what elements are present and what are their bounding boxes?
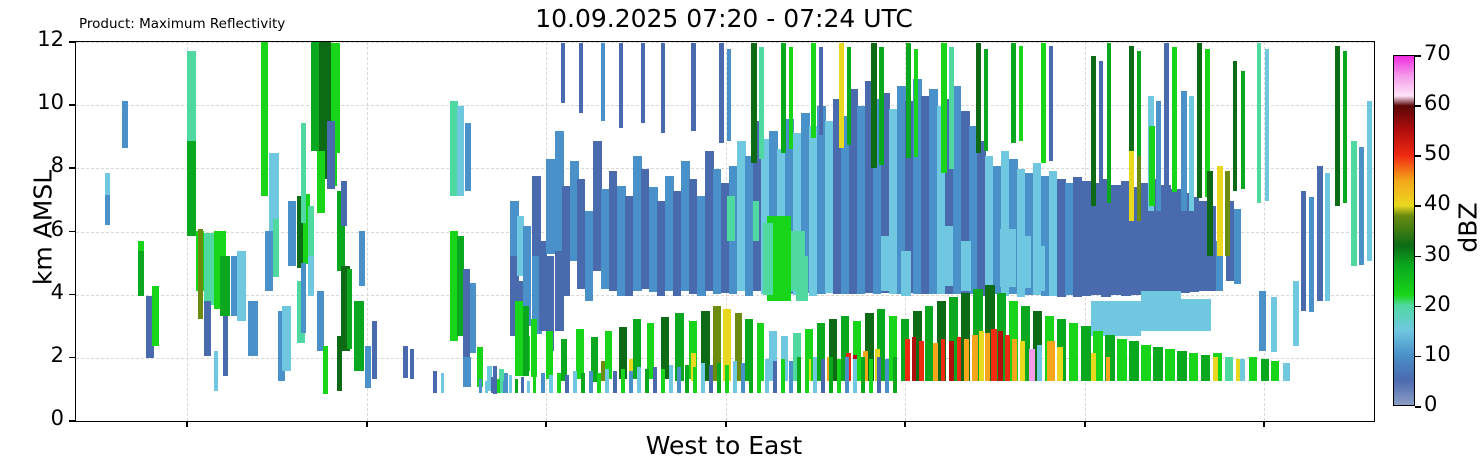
y-tick-label: 0 (20, 406, 64, 430)
reflectivity-cell (1236, 359, 1240, 381)
reflectivity-cell (809, 126, 817, 296)
reflectivity-cell (485, 381, 488, 393)
reflectivity-cell (557, 373, 561, 393)
reflectivity-cell (797, 357, 801, 393)
y-tick-mark (69, 357, 75, 359)
reflectivity-cell (693, 367, 697, 393)
reflectivity-cell (1017, 236, 1031, 288)
y-tick-mark (69, 41, 75, 43)
reflectivity-cell (1283, 363, 1290, 381)
colorbar-tick-label: 60 (1424, 91, 1451, 115)
reflectivity-cell (601, 189, 609, 289)
reflectivity-cell (288, 201, 296, 266)
reflectivity-cell (869, 359, 873, 393)
reflectivity-cell (661, 43, 665, 133)
reflectivity-cell (893, 357, 897, 393)
reflectivity-cell (713, 169, 721, 294)
reflectivity-cell (941, 339, 945, 381)
reflectivity-cell (985, 156, 993, 296)
reflectivity-cell (621, 369, 625, 393)
reflectivity-cell (906, 43, 911, 158)
reflectivity-cell (1164, 43, 1169, 193)
plot-area (75, 41, 1375, 422)
y-tick-mark (69, 294, 75, 296)
reflectivity-cell (821, 359, 825, 393)
reflectivity-cell (1117, 339, 1127, 381)
reflectivity-cell (341, 181, 347, 226)
reflectivity-cell (625, 196, 633, 296)
colorbar-tick-mark (1415, 406, 1421, 408)
reflectivity-cell (819, 47, 823, 135)
reflectivity-cell (717, 363, 721, 393)
y-tick-mark (69, 231, 75, 233)
x-tick-mark (545, 421, 547, 427)
reflectivity-cell (619, 43, 623, 128)
reflectivity-cell (105, 173, 110, 195)
reflectivity-cell (949, 341, 954, 381)
reflectivity-cell (912, 337, 916, 381)
reflectivity-cell (491, 377, 494, 393)
reflectivity-cell (921, 96, 929, 294)
reflectivity-cell (497, 379, 500, 393)
reflectivity-cell (753, 201, 759, 241)
reflectivity-cell (757, 363, 761, 393)
reflectivity-cell (741, 363, 745, 393)
reflectivity-cell (691, 43, 696, 131)
colorbar-tick-label: 10 (1424, 342, 1451, 366)
reflectivity-cell (282, 306, 291, 371)
product-annotation: Product: Maximum Reflectivity (79, 16, 285, 32)
reflectivity-cell (579, 43, 583, 113)
reflectivity-cell (1129, 151, 1134, 221)
reflectivity-cell (763, 223, 773, 295)
reflectivity-cell (317, 291, 324, 351)
reflectivity-cell (403, 346, 408, 378)
reflectivity-cell (605, 369, 609, 393)
reflectivity-cell (677, 367, 681, 393)
reflectivity-cell (365, 346, 371, 388)
reflectivity-cell (657, 201, 665, 296)
reflectivity-cell (204, 301, 211, 356)
reflectivity-cell (641, 169, 649, 289)
reflectivity-cell (781, 359, 785, 393)
reflectivity-cell (839, 43, 844, 148)
reflectivity-cell (1049, 171, 1057, 296)
colorbar-tick-mark (1415, 256, 1421, 258)
colorbar-tick-mark (1415, 155, 1421, 157)
y-tick-mark (69, 167, 75, 169)
reflectivity-cell (953, 86, 961, 294)
reflectivity-cell (1047, 341, 1055, 381)
reflectivity-cell (857, 106, 865, 294)
reflectivity-cell (1261, 359, 1269, 381)
reflectivity-cell (1201, 355, 1210, 381)
reflectivity-cell (1189, 353, 1198, 381)
reflectivity-cell (847, 47, 851, 145)
reflectivity-cell (441, 373, 444, 393)
reflectivity-cell (789, 361, 793, 393)
reflectivity-cell (749, 361, 753, 393)
reflectivity-cell (354, 301, 364, 371)
reflectivity-cell (1081, 326, 1091, 381)
reflectivity-cell (323, 346, 328, 394)
reflectivity-cell (198, 229, 203, 319)
reflectivity-cell (463, 269, 470, 359)
reflectivity-cell (1335, 46, 1340, 206)
reflectivity-cell (765, 359, 769, 393)
reflectivity-cell (1317, 166, 1323, 301)
reflectivity-cell (581, 373, 585, 393)
reflectivity-cell (562, 186, 570, 296)
reflectivity-cell (871, 43, 877, 168)
reflectivity-cell (576, 329, 584, 379)
reflectivity-cell (317, 151, 325, 213)
y-tick-label: 10 (20, 90, 64, 114)
reflectivity-cell (845, 357, 849, 393)
reflectivity-cell (463, 357, 471, 387)
reflectivity-cell (789, 47, 793, 149)
reflectivity-cell (885, 359, 889, 393)
reflectivity-cell (1037, 345, 1042, 381)
reflectivity-cell (1207, 171, 1213, 256)
reflectivity-cell (1012, 339, 1017, 381)
reflectivity-cell (1091, 56, 1096, 206)
reflectivity-cell (1234, 209, 1241, 284)
y-tick-mark (69, 420, 75, 422)
reflectivity-cell (1217, 166, 1223, 256)
reflectivity-cell (359, 231, 365, 286)
reflectivity-cell (561, 43, 565, 103)
colorbar-tick-mark (1415, 306, 1421, 308)
radar-cross-section-figure: 10.09.2025 07:20 - 07:24 UTC Product: Ma… (0, 0, 1482, 470)
reflectivity-cell (1111, 185, 1121, 295)
reflectivity-cell (1213, 357, 1218, 381)
reflectivity-cell (515, 301, 523, 376)
y-tick-label: 8 (20, 153, 64, 177)
reflectivity-cell (933, 343, 938, 381)
reflectivity-cell (979, 331, 984, 381)
reflectivity-cell (1011, 43, 1016, 143)
x-tick-mark (186, 421, 188, 427)
reflectivity-cell (1351, 141, 1357, 266)
reflectivity-cell (521, 377, 524, 393)
reflectivity-cell (261, 41, 268, 196)
reflectivity-cell (919, 341, 924, 381)
reflectivity-cell (541, 373, 545, 393)
reflectivity-cell (1181, 299, 1211, 331)
reflectivity-cell (347, 269, 352, 349)
reflectivity-cell (976, 43, 981, 153)
x-tick-mark (725, 421, 727, 427)
reflectivity-cell (1065, 183, 1073, 295)
reflectivity-cell (985, 333, 990, 381)
reflectivity-cell (546, 331, 553, 379)
reflectivity-cell (138, 251, 144, 296)
reflectivity-cell (1249, 357, 1257, 381)
reflectivity-cell (577, 179, 585, 289)
reflectivity-cell (1033, 246, 1045, 291)
reflectivity-cell (1099, 61, 1103, 203)
reflectivity-cell (1367, 101, 1372, 261)
reflectivity-cell (805, 359, 809, 393)
reflectivity-cell (1161, 185, 1171, 295)
reflectivity-cell (410, 349, 414, 379)
reflectivity-cell (727, 49, 731, 141)
reflectivity-cell (719, 43, 724, 143)
reflectivity-cell (689, 179, 697, 294)
reflectivity-cell (597, 373, 601, 393)
reflectivity-cell (1233, 61, 1237, 191)
reflectivity-cell (796, 256, 808, 301)
reflectivity-cell (825, 121, 833, 293)
colorbar-tick-mark (1415, 105, 1421, 107)
reflectivity-cell (531, 319, 537, 377)
reflectivity-cell (961, 241, 971, 291)
x-tick-mark (366, 421, 368, 427)
reflectivity-cell (727, 196, 735, 241)
reflectivity-cell (1309, 197, 1314, 312)
reflectivity-cell (1225, 171, 1230, 256)
colorbar-tick-mark (1415, 356, 1421, 358)
y-tick-label: 12 (20, 27, 64, 51)
colorbar-tick-label: 20 (1424, 292, 1451, 316)
reflectivity-cell (669, 365, 673, 393)
reflectivity-cell (1293, 281, 1299, 346)
reflectivity-cell (1000, 229, 1016, 287)
reflectivity-cell (1265, 49, 1269, 201)
reflectivity-cell (223, 316, 228, 376)
reflectivity-cell (745, 156, 753, 296)
reflectivity-cell (641, 43, 645, 123)
reflectivity-cell (187, 141, 196, 236)
reflectivity-cell (877, 357, 881, 393)
reflectivity-cell (1141, 345, 1151, 381)
reflectivity-cell (1137, 156, 1141, 221)
reflectivity-cell (273, 219, 279, 277)
reflectivity-cell (327, 121, 335, 189)
colorbar-tick-label: 70 (1424, 41, 1451, 65)
reflectivity-cell (1325, 173, 1330, 301)
reflectivity-heatmap (76, 42, 1374, 421)
reflectivity-cell (773, 361, 777, 393)
reflectivity-cell (853, 359, 857, 393)
reflectivity-cell (301, 123, 306, 223)
colorbar-tick-label: 0 (1424, 392, 1437, 416)
reflectivity-cell (813, 357, 817, 393)
colorbar-tick-label: 50 (1424, 141, 1451, 165)
colorbar (1393, 55, 1415, 406)
reflectivity-cell (991, 329, 997, 381)
reflectivity-cell (523, 306, 529, 376)
reflectivity-cell (1271, 361, 1279, 381)
reflectivity-cell (901, 251, 911, 296)
colorbar-gradient (1393, 55, 1415, 406)
reflectivity-cell (1069, 323, 1078, 381)
y-tick-label: 6 (20, 217, 64, 241)
colorbar-label: dBZ (1454, 167, 1482, 287)
reflectivity-cell (1081, 181, 1091, 296)
reflectivity-cell (1177, 351, 1187, 381)
reflectivity-cell (879, 47, 884, 165)
reflectivity-cell (527, 381, 530, 393)
reflectivity-cell (1005, 335, 1010, 381)
reflectivity-cell (998, 331, 1003, 381)
x-tick-mark (1084, 421, 1086, 427)
reflectivity-cell (949, 47, 954, 169)
reflectivity-cell (1225, 357, 1233, 381)
reflectivity-cell (759, 47, 764, 159)
y-tick-mark (69, 104, 75, 106)
reflectivity-cell (905, 339, 910, 381)
reflectivity-cell (1149, 126, 1155, 206)
reflectivity-cell (1091, 353, 1096, 381)
reflectivity-cell (433, 371, 437, 393)
reflectivity-cell (629, 371, 633, 393)
reflectivity-cell (964, 339, 969, 381)
reflectivity-cell (589, 371, 593, 393)
reflectivity-cell (479, 379, 482, 393)
reflectivity-cell (1020, 341, 1025, 381)
y-tick-label: 2 (20, 343, 64, 367)
reflectivity-cell (709, 365, 713, 393)
reflectivity-cell (1189, 96, 1194, 211)
reflectivity-cell (701, 363, 705, 393)
reflectivity-cell (1257, 43, 1261, 203)
reflectivity-cell (685, 365, 689, 393)
reflectivity-cell (637, 367, 641, 393)
reflectivity-cell (1190, 197, 1199, 292)
reflectivity-cell (573, 371, 577, 393)
reflectivity-cell (214, 351, 218, 391)
reflectivity-cell (457, 106, 464, 196)
reflectivity-cell (220, 256, 230, 316)
reflectivity-cell (1181, 91, 1187, 211)
reflectivity-cell (1129, 341, 1139, 381)
reflectivity-cell (204, 233, 214, 305)
reflectivity-cell (503, 381, 506, 393)
colorbar-tick-mark (1415, 55, 1421, 57)
reflectivity-cell (725, 365, 729, 393)
reflectivity-cell (1019, 46, 1023, 141)
reflectivity-cell (1171, 189, 1181, 294)
reflectivity-cell (565, 375, 569, 393)
x-tick-mark (904, 421, 906, 427)
reflectivity-cell (585, 211, 593, 301)
reflectivity-cell (265, 231, 273, 291)
reflectivity-cell (645, 369, 649, 393)
reflectivity-cell (1343, 51, 1347, 203)
reflectivity-cell (1029, 349, 1035, 381)
reflectivity-cell (972, 335, 978, 381)
reflectivity-cell (941, 43, 947, 173)
reflectivity-cell (914, 49, 918, 157)
reflectivity-cell (613, 371, 617, 393)
reflectivity-cell (470, 283, 476, 353)
reflectivity-cell (661, 369, 665, 393)
reflectivity-cell (811, 43, 816, 138)
x-axis-label: West to East (75, 431, 1373, 460)
x-tick-mark (1263, 421, 1265, 427)
reflectivity-cell (1153, 347, 1163, 381)
reflectivity-cell (308, 256, 314, 296)
reflectivity-cell (1241, 71, 1245, 189)
reflectivity-cell (957, 337, 961, 381)
reflectivity-cell (237, 251, 246, 321)
reflectivity-cell (941, 226, 953, 286)
reflectivity-cell (781, 43, 786, 153)
reflectivity-cell (609, 171, 617, 291)
reflectivity-cell (1172, 47, 1177, 192)
reflectivity-cell (1197, 43, 1202, 198)
reflectivity-cell (1041, 43, 1046, 163)
reflectivity-cell (372, 321, 377, 379)
y-tick-label: 4 (20, 280, 64, 304)
reflectivity-cell (509, 375, 512, 393)
reflectivity-cell (1301, 191, 1306, 311)
reflectivity-cell (1271, 297, 1277, 352)
reflectivity-cell (653, 367, 657, 393)
reflectivity-cell (515, 379, 518, 393)
reflectivity-cell (301, 263, 306, 333)
reflectivity-cell (861, 357, 865, 393)
reflectivity-cell (751, 43, 757, 163)
reflectivity-cell (733, 361, 737, 393)
reflectivity-cell (122, 101, 128, 148)
reflectivity-cell (152, 286, 159, 346)
reflectivity-cell (1107, 43, 1111, 203)
reflectivity-cell (337, 336, 342, 391)
colorbar-tick-label: 30 (1424, 242, 1451, 266)
reflectivity-cell (925, 306, 933, 381)
reflectivity-cell (248, 301, 258, 356)
reflectivity-cell (1165, 349, 1175, 381)
reflectivity-cell (601, 43, 605, 121)
reflectivity-cell (1057, 347, 1063, 381)
reflectivity-cell (673, 191, 681, 296)
reflectivity-cell (1106, 357, 1110, 381)
colorbar-tick-mark (1415, 205, 1421, 207)
reflectivity-cell (549, 375, 553, 393)
reflectivity-cell (1359, 147, 1364, 265)
reflectivity-cell (465, 123, 471, 191)
reflectivity-cell (1049, 46, 1053, 161)
colorbar-tick-label: 40 (1424, 191, 1451, 215)
reflectivity-cell (984, 49, 988, 151)
reflectivity-cell (829, 357, 833, 393)
reflectivity-cell (1141, 291, 1181, 331)
reflectivity-cell (837, 359, 841, 393)
reflectivity-cell (1156, 101, 1161, 211)
reflectivity-cell (533, 375, 536, 393)
reflectivity-cell (1259, 291, 1266, 351)
reflectivity-cell (881, 236, 891, 291)
